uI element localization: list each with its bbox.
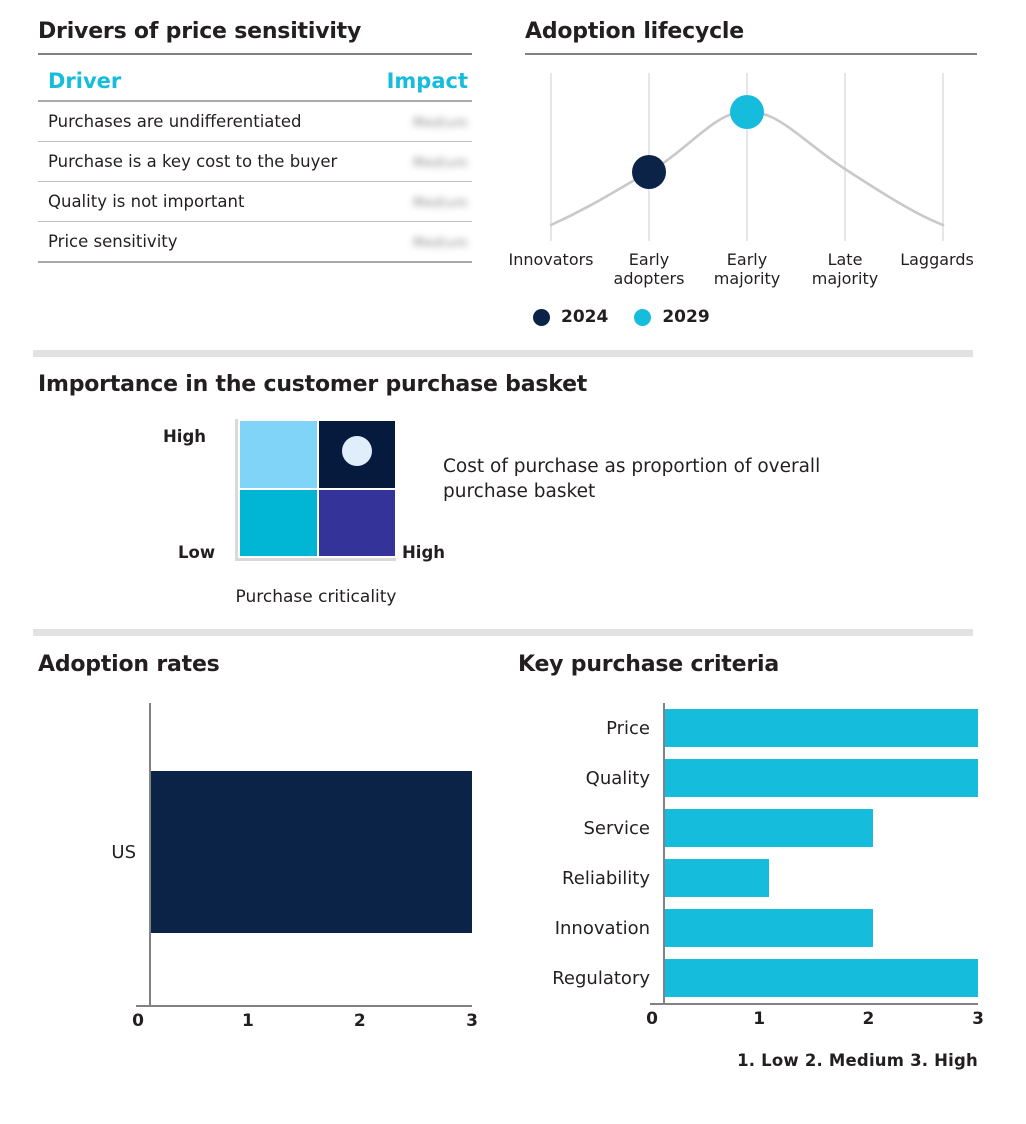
criteria-axis-area: 0 1 2 3 bbox=[650, 1003, 978, 1031]
adoption-tick-0: 0 bbox=[132, 1011, 144, 1031]
adoption-rates-panel: Adoption rates US bbox=[38, 653, 472, 1033]
criteria-bar-fill-price[interactable] bbox=[665, 709, 978, 747]
adoption-tick-1: 1 bbox=[242, 1011, 254, 1031]
table-row: Quality is not important Medium bbox=[38, 182, 472, 222]
adoption-spacer-label bbox=[38, 727, 149, 748]
matrix-y-axis bbox=[235, 419, 238, 561]
criteria-bar-row-regulatory: Regulatory bbox=[518, 953, 978, 1003]
table-row: Purchase is a key cost to the buyer Medi… bbox=[38, 142, 472, 182]
criteria-bar-fill-reliability[interactable] bbox=[665, 859, 769, 897]
matrix-y-label-high: High bbox=[163, 427, 206, 446]
redacted-impact-value: Medium bbox=[413, 156, 468, 171]
criteria-tick-3: 3 bbox=[972, 1009, 984, 1029]
lifecycle-plot-svg bbox=[525, 69, 977, 249]
matrix-y-label-low: Low bbox=[178, 543, 215, 562]
adoption-plot-top-pad bbox=[38, 703, 472, 771]
adoption-axis-wrap: 0 1 2 3 bbox=[38, 1005, 472, 1033]
lifecycle-label-early-majority: Early majority bbox=[714, 251, 780, 288]
criteria-bar-row-quality: Quality bbox=[518, 753, 978, 803]
legend-dot-icon-2024 bbox=[533, 309, 550, 326]
drivers-panel: Drivers of price sensitivity Driver Impa… bbox=[38, 20, 472, 263]
lifecycle-label-early-adopters: Early adopters bbox=[614, 251, 685, 288]
purchase-basket-title: Importance in the customer purchase bask… bbox=[38, 373, 978, 397]
lifecycle-legend: 2024 2029 bbox=[525, 307, 977, 327]
criteria-category-label-reliability: Reliability bbox=[518, 868, 663, 889]
legend-dot-icon-2029 bbox=[634, 309, 651, 326]
column-header-impact: Impact bbox=[367, 69, 472, 101]
criteria-bar-fill-quality[interactable] bbox=[665, 759, 978, 797]
legend-item-2029[interactable]: 2029 bbox=[634, 307, 709, 327]
matrix-quadrant-bottom-right[interactable] bbox=[319, 490, 396, 557]
legend-item-2024[interactable]: 2024 bbox=[533, 307, 608, 327]
adoption-lifecycle-panel: Adoption lifecycle Innovators bbox=[525, 20, 977, 249]
criteria-tick-2: 2 bbox=[863, 1009, 875, 1029]
matrix-position-marker bbox=[342, 436, 372, 466]
redacted-impact-value: Medium bbox=[413, 116, 468, 131]
driver-cell: Price sensitivity bbox=[38, 222, 367, 263]
criteria-bar-row-price: Price bbox=[518, 703, 978, 753]
impact-cell: Medium bbox=[367, 182, 472, 222]
impact-cell: Medium bbox=[367, 222, 472, 263]
matrix-quadrant-bottom-left[interactable] bbox=[240, 490, 317, 557]
purchase-basket-panel: Importance in the customer purchase bask… bbox=[38, 373, 978, 634]
criteria-bar-track-quality bbox=[663, 753, 978, 803]
criteria-category-label-quality: Quality bbox=[518, 768, 663, 789]
adoption-tick-2: 2 bbox=[354, 1011, 366, 1031]
criteria-x-axis-ticks: 0 1 2 3 bbox=[650, 1005, 978, 1031]
matrix-quadrant-top-right[interactable] bbox=[319, 421, 396, 488]
key-purchase-criteria-title: Key purchase criteria bbox=[518, 653, 978, 677]
section-divider-bottom bbox=[33, 629, 973, 636]
matrix-quadrant-top-left[interactable] bbox=[240, 421, 317, 488]
drivers-panel-title: Drivers of price sensitivity bbox=[38, 20, 472, 44]
redacted-impact-value: Medium bbox=[413, 236, 468, 251]
lifecycle-marker-2029[interactable] bbox=[730, 95, 764, 129]
key-purchase-criteria-panel: Key purchase criteria Price Quality Serv… bbox=[518, 653, 978, 1070]
key-purchase-criteria-chart: Price Quality Service Reliability bbox=[518, 703, 978, 1070]
criteria-bar-row-reliability: Reliability bbox=[518, 853, 978, 903]
adoption-bar-fill-us[interactable] bbox=[151, 771, 472, 933]
redacted-impact-value: Medium bbox=[413, 196, 468, 211]
criteria-bar-track-innovation bbox=[663, 903, 978, 953]
impact-cell: Medium bbox=[367, 142, 472, 182]
adoption-spacer-label-bottom bbox=[38, 959, 149, 980]
criteria-bar-track-regulatory bbox=[663, 953, 978, 1003]
adoption-x-axis-ticks: 0 1 2 3 bbox=[136, 1007, 472, 1033]
purchase-basket-note: Cost of purchase as proportion of overal… bbox=[443, 455, 863, 504]
criteria-bar-track-reliability bbox=[663, 853, 978, 903]
criteria-axis-wrap: 0 1 2 3 bbox=[518, 1003, 978, 1031]
legend-label-2024: 2024 bbox=[561, 307, 608, 327]
matrix-x-axis-caption: Purchase criticality bbox=[186, 587, 446, 607]
criteria-category-label-regulatory: Regulatory bbox=[518, 968, 663, 989]
adoption-tick-3: 3 bbox=[466, 1011, 478, 1031]
lifecycle-label-late-majority: Late majority bbox=[812, 251, 878, 288]
criteria-bar-row-innovation: Innovation bbox=[518, 903, 978, 953]
adoption-bar-row-us: US bbox=[38, 771, 472, 933]
lifecycle-category-labels: Innovators Early adopters Early majority… bbox=[525, 251, 977, 301]
criteria-tick-0: 0 bbox=[646, 1009, 658, 1029]
driver-cell: Quality is not important bbox=[38, 182, 367, 222]
criteria-tick-1: 1 bbox=[753, 1009, 765, 1029]
legend-label-2029: 2029 bbox=[662, 307, 709, 327]
criteria-scale-note: 1. Low 2. Medium 3. High bbox=[518, 1051, 978, 1070]
section-divider-top bbox=[33, 350, 973, 357]
criteria-bar-track-price bbox=[663, 703, 978, 753]
criteria-bar-fill-innovation[interactable] bbox=[665, 909, 873, 947]
drivers-title-rule bbox=[38, 53, 472, 55]
criteria-category-label-innovation: Innovation bbox=[518, 918, 663, 939]
lifecycle-label-innovators: Innovators bbox=[508, 251, 593, 269]
criteria-category-label-service: Service bbox=[518, 818, 663, 839]
adoption-rates-title: Adoption rates bbox=[38, 653, 472, 677]
table-row: Purchases are undifferentiated Medium bbox=[38, 101, 472, 142]
adoption-lifecycle-title: Adoption lifecycle bbox=[525, 20, 977, 44]
column-header-driver: Driver bbox=[38, 69, 367, 101]
adoption-spacer-track-bottom bbox=[149, 933, 472, 1005]
adoption-category-label-us: US bbox=[38, 842, 149, 863]
adoption-plot-spacer-row bbox=[38, 703, 472, 771]
purchase-basket-body: High Low High Purchase criticality Cost … bbox=[38, 419, 978, 634]
criteria-bar-fill-regulatory[interactable] bbox=[665, 959, 978, 997]
adoption-plot-bottom-pad bbox=[38, 933, 472, 1005]
lifecycle-label-laggards: Laggards bbox=[900, 251, 974, 269]
matrix-x-label-high: High bbox=[402, 543, 445, 562]
adoption-axis-area: 0 1 2 3 bbox=[136, 1005, 472, 1033]
lifecycle-marker-2024[interactable] bbox=[632, 155, 666, 189]
impact-cell: Medium bbox=[367, 101, 472, 142]
drivers-table: Driver Impact Purchases are undifferenti… bbox=[38, 69, 472, 263]
dashboard-page: Drivers of price sensitivity Driver Impa… bbox=[0, 0, 1026, 1124]
drivers-table-header-row: Driver Impact bbox=[38, 69, 472, 101]
driver-cell: Purchases are undifferentiated bbox=[38, 101, 367, 142]
adoption-axis-gutter bbox=[38, 1005, 136, 1033]
driver-cell: Purchase is a key cost to the buyer bbox=[38, 142, 367, 182]
criteria-bar-fill-service[interactable] bbox=[665, 809, 873, 847]
table-row: Price sensitivity Medium bbox=[38, 222, 472, 263]
lifecycle-title-rule bbox=[525, 53, 977, 55]
criteria-axis-gutter bbox=[518, 1003, 650, 1031]
adoption-bar-track-us bbox=[149, 771, 472, 933]
adoption-spacer-track bbox=[149, 703, 472, 771]
adoption-rates-chart: US 0 1 2 3 bbox=[38, 703, 472, 1033]
criteria-category-label-price: Price bbox=[518, 718, 663, 739]
matrix-x-axis bbox=[235, 558, 396, 561]
criteria-bar-track-service bbox=[663, 803, 978, 853]
adoption-lifecycle-chart: Innovators Early adopters Early majority… bbox=[525, 69, 977, 249]
criteria-bar-row-service: Service bbox=[518, 803, 978, 853]
matrix-quadrants bbox=[240, 421, 395, 556]
